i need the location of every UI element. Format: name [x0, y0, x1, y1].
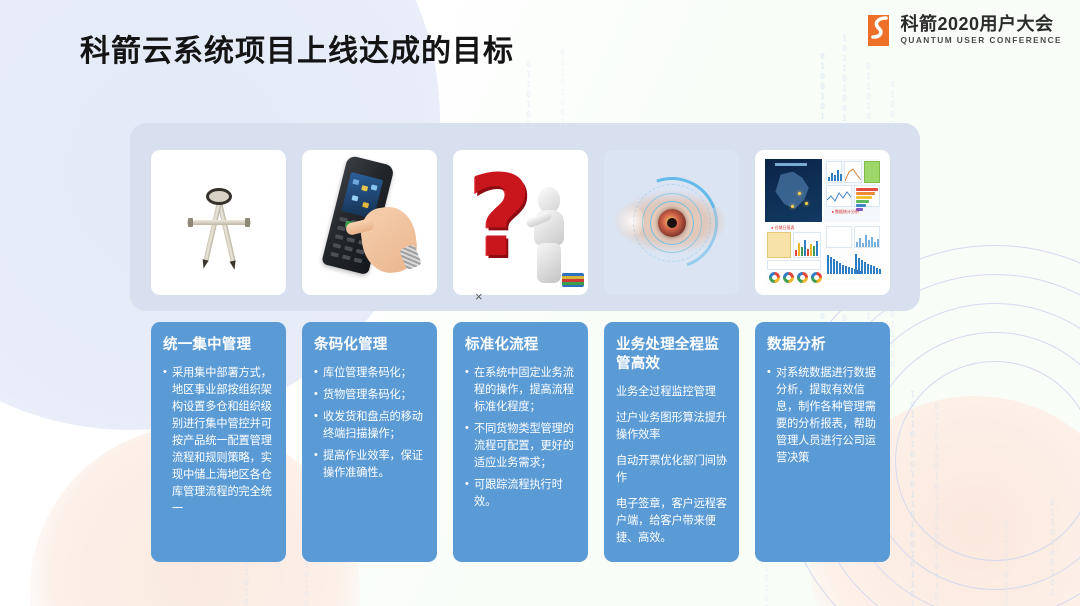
- logo-title-cn: 科箭2020用户大会: [901, 14, 1063, 34]
- handheld-barcode-scanner-image: [302, 150, 437, 295]
- dashboard-charts-panel-a: ● 数据统计分析: [824, 159, 881, 222]
- card-bullet-item: 采用集中部署方式，地区事业部按组织架构设置多仓和组织级别进行集中管控并可按产品统…: [163, 365, 274, 518]
- dashboard-charts-panel-c: [824, 224, 881, 287]
- binary-decoration: 10110100101101001011010010110: [906, 390, 919, 598]
- card-bullet-list: 对系统数据进行数据分析，提取有效信息，制作各种管理需要的分析报表，帮助管理人员进…: [767, 365, 878, 467]
- card-title: 数据分析: [767, 336, 878, 355]
- card-title: 业务处理全程监管高效: [616, 336, 727, 374]
- binary-decoration: 01101001011010010110100101101: [930, 402, 943, 594]
- card-bullet-list: 采用集中部署方式，地区事业部按组织架构设置多仓和组织级别进行集中管控并可按产品统…: [163, 365, 274, 518]
- digital-eye-monitoring-image: [604, 150, 739, 295]
- card-paragraph-list: 业务全过程监控管理 过户业务图形算法提升操作效率 自动开票优化部门间协作 电子签…: [616, 384, 727, 547]
- logo-text-block: 科箭2020用户大会 QUANTUM USER CONFERENCE: [901, 14, 1063, 46]
- card-bullet-item: 提高作业效率，保证操作准确性。: [314, 448, 425, 482]
- card-paragraph-item: 过户业务图形算法提升操作效率: [616, 410, 727, 444]
- question-mark-icon: ?: [462, 159, 580, 287]
- card-bullet-item: 对系统数据进行数据分析，提取有效信息，制作各种管理需要的分析报表，帮助管理人员进…: [767, 365, 878, 467]
- card-bullet-item: 不同货物类型管理的流程可配置，更好的适应业务需求；: [465, 421, 576, 472]
- conference-logo: 科箭2020用户大会 QUANTUM USER CONFERENCE: [865, 14, 1063, 46]
- card-title: 条码化管理: [314, 336, 425, 355]
- card-title: 标准化流程: [465, 336, 576, 355]
- dashboard-chart-grid: ● 数据统计分析 ● 仓储日报表: [763, 157, 882, 288]
- card-paragraph-item: 自动开票优化部门间协作: [616, 453, 727, 487]
- thumbnail-row: ?: [151, 150, 899, 295]
- digital-eye-icon: [612, 173, 732, 273]
- card-bullet-list: 在系统中固定业务流程的操作，提高流程标准化程度； 不同货物类型管理的流程可配置，…: [465, 365, 576, 511]
- card-title: 统一集中管理: [163, 336, 274, 355]
- card-bullet-item: 库位管理条码化；: [314, 365, 425, 382]
- binary-decoration: 0110100101: [1046, 498, 1059, 602]
- thinking-person-icon: [528, 187, 572, 283]
- card-standardized-process: 标准化流程 在系统中固定业务流程的操作，提高流程标准化程度； 不同货物类型管理的…: [453, 322, 588, 562]
- compass-drafting-image: [151, 150, 286, 295]
- close-icon[interactable]: ×: [475, 290, 483, 303]
- card-bullet-item: 可跟踪流程执行时效。: [465, 477, 576, 511]
- binary-decoration: 0110100101: [522, 60, 535, 124]
- card-barcode-management: 条码化管理 库位管理条码化； 货物管理条码化； 收发货和盘点的移动终端扫描操作；…: [302, 322, 437, 562]
- card-bullet-item: 收发货和盘点的移动终端扫描操作；: [314, 409, 425, 443]
- feature-card-row: 统一集中管理 采用集中部署方式，地区事业部按组织架构设置多仓和组织级别进行集中管…: [151, 322, 899, 562]
- dashboard-map-panel: [765, 159, 822, 222]
- dashboard-charts-panel-b: ● 仓储日报表: [765, 224, 822, 287]
- card-bullet-item: 货物管理条码化；: [314, 387, 425, 404]
- card-bullet-item: 在系统中固定业务流程的操作，提高流程标准化程度；: [465, 365, 576, 416]
- card-unified-centralized-management: 统一集中管理 采用集中部署方式，地区事业部按组织架构设置多仓和组织级别进行集中管…: [151, 322, 286, 562]
- question-mark-figure-image: ?: [453, 150, 588, 295]
- logo-title-en: QUANTUM USER CONFERENCE: [901, 36, 1063, 46]
- card-paragraph-item: 业务全过程监控管理: [616, 384, 727, 401]
- card-paragraph-item: 电子签章，客户远程客户端，给客户带来便捷、高效。: [616, 496, 727, 547]
- page-title: 科箭云系统项目上线达成的目标: [80, 26, 514, 70]
- card-bullet-list: 库位管理条码化； 货物管理条码化； 收发货和盘点的移动终端扫描操作； 提高作业效…: [314, 365, 425, 482]
- binary-decoration: 0110100101: [1000, 520, 1013, 600]
- card-business-process-supervision: 业务处理全程监管高效 业务全过程监控管理 过户业务图形算法提升操作效率 自动开票…: [604, 322, 739, 562]
- data-dashboard-image: ● 数据统计分析 ● 仓储日报表: [755, 150, 890, 295]
- barcode-scanner-icon: [310, 155, 430, 290]
- binary-decoration: 0110100101: [556, 48, 569, 128]
- books-icon: [562, 273, 584, 287]
- quantum-s-logo-icon: [865, 15, 892, 46]
- compass-icon: [184, 180, 254, 266]
- card-data-analysis: 数据分析 对系统数据进行数据分析，提取有效信息，制作各种管理需要的分析报表，帮助…: [755, 322, 890, 562]
